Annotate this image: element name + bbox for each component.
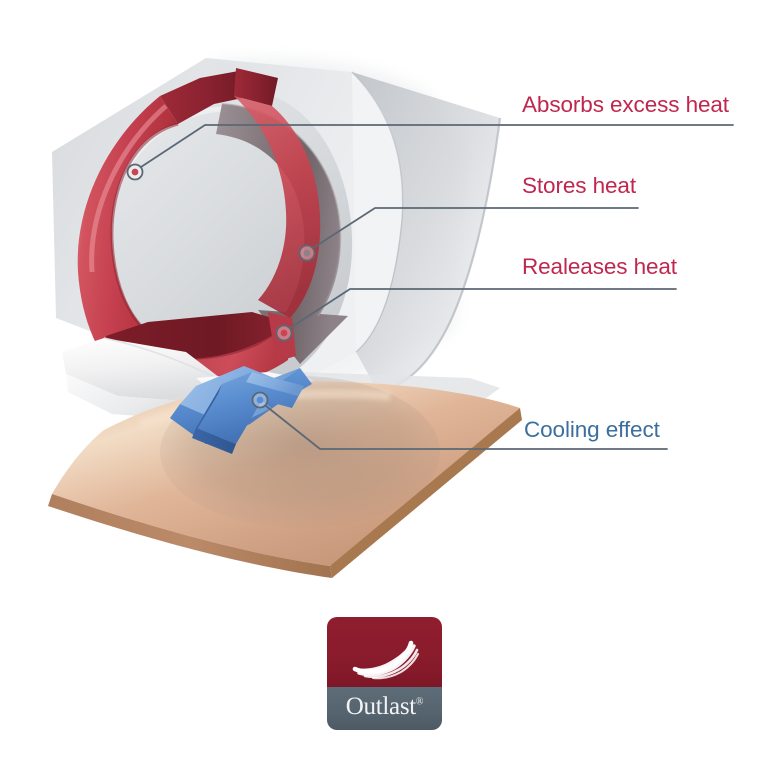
outlast-swoosh-icon — [349, 639, 421, 681]
label-stores-heat: Stores heat — [522, 175, 636, 198]
diagram-canvas: Absorbs excess heat Stores heat Realease… — [0, 0, 768, 768]
label-absorbs-excess-heat: Absorbs excess heat — [522, 94, 729, 117]
logo-wordmark-text: Outlast — [346, 693, 416, 720]
logo-trademark-symbol: ® — [416, 697, 423, 708]
outlast-logo: Outlast® — [327, 617, 442, 730]
label-releases-heat: Realeases heat — [522, 256, 677, 279]
logo-wordmark: Outlast® — [327, 693, 442, 721]
label-cooling-effect: Cooling effect — [524, 419, 660, 442]
